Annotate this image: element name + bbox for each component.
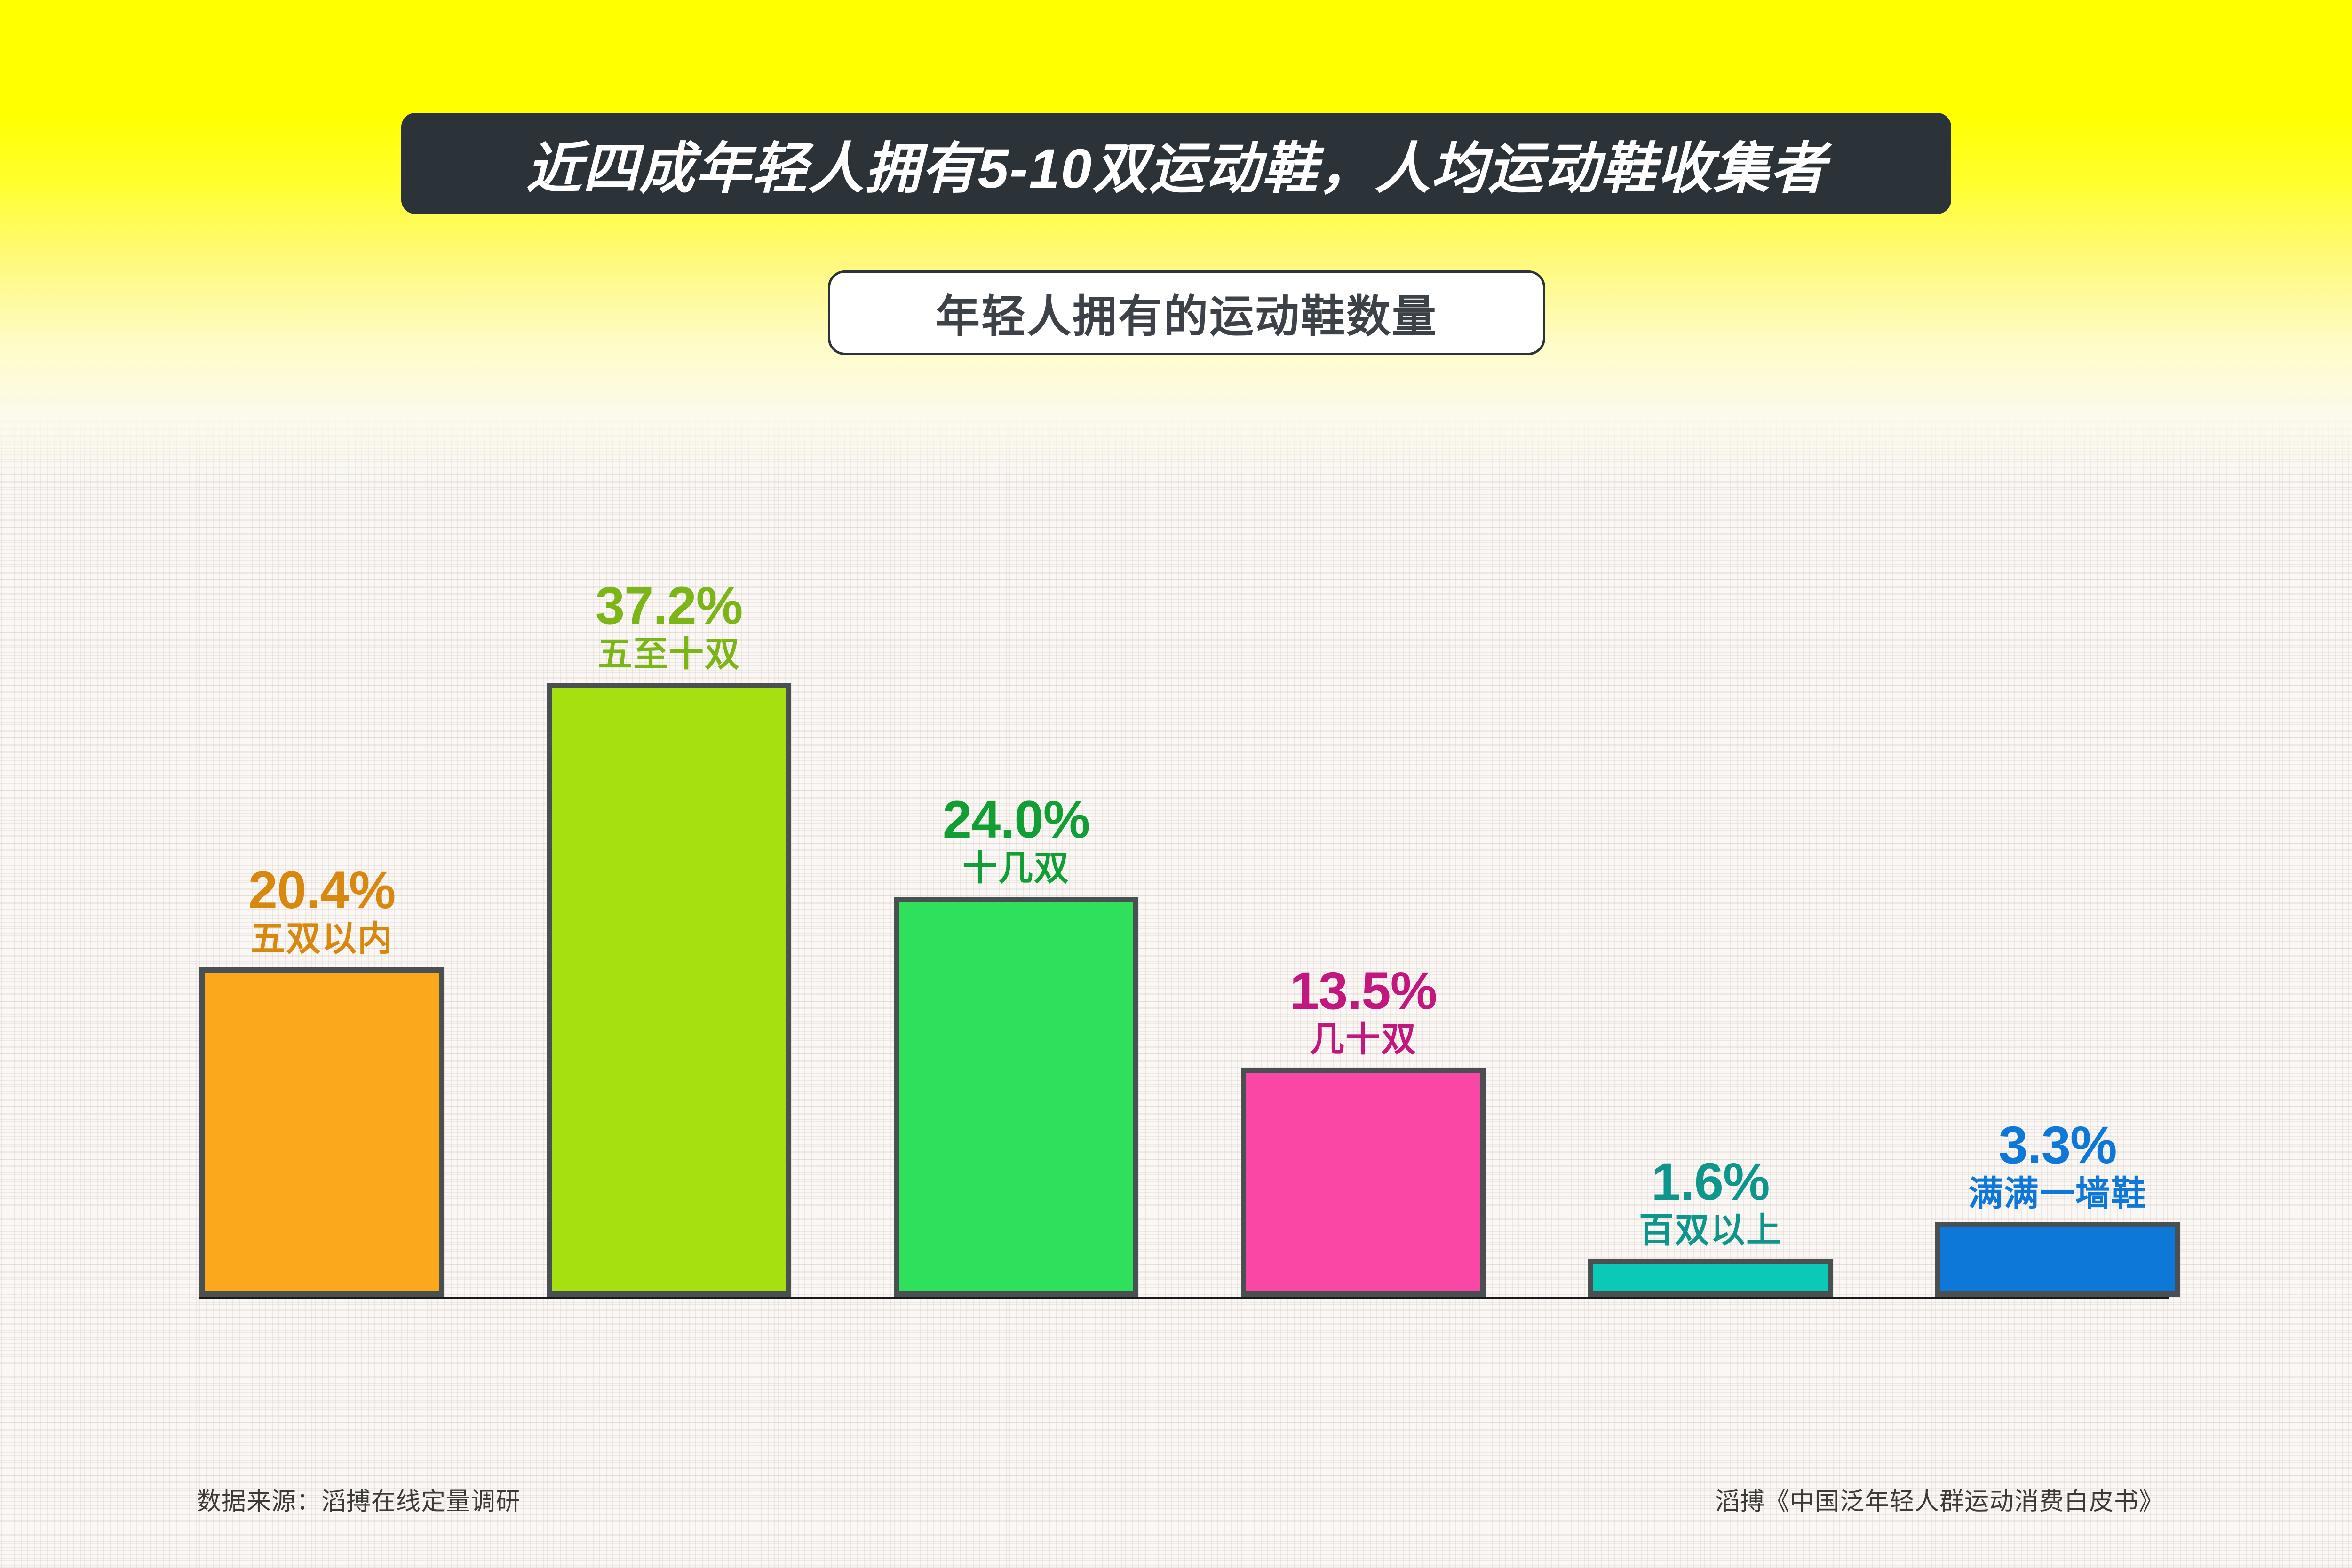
bar-category-label: 五双以内 xyxy=(248,921,396,956)
bar-group: 24.0%十几双 xyxy=(894,897,1138,1297)
bar-category-label: 几十双 xyxy=(1290,1022,1437,1057)
bar-value-label: 3.3% xyxy=(1968,1119,2147,1172)
footer-source: 数据来源：滔搏在线定量调研 xyxy=(197,1481,521,1517)
bar-value-label: 24.0% xyxy=(943,793,1090,846)
bar-label-block: 13.5%几十双 xyxy=(1290,965,1437,1057)
bar-value-label: 13.5% xyxy=(1290,965,1437,1017)
bar[interactable] xyxy=(1588,1259,1833,1297)
bar-category-label: 五至十双 xyxy=(596,637,743,672)
bar[interactable] xyxy=(199,967,444,1297)
bar-group: 1.6%百双以上 xyxy=(1588,1259,1833,1297)
bar-label-block: 3.3%满满一墙鞋 xyxy=(1968,1119,2147,1211)
bar-label-block: 20.4%五双以内 xyxy=(248,864,396,956)
bar-category-label: 百双以上 xyxy=(1639,1213,1782,1248)
bar-label-block: 1.6%百双以上 xyxy=(1639,1156,1782,1248)
bar-label-block: 24.0%十几双 xyxy=(943,793,1090,886)
bar[interactable] xyxy=(894,897,1138,1297)
bar-group: 13.5%几十双 xyxy=(1241,1068,1486,1297)
bar-group: 3.3%满满一墙鞋 xyxy=(1935,1222,2180,1297)
bar-value-label: 20.4% xyxy=(248,864,396,917)
bar[interactable] xyxy=(547,683,791,1297)
bar[interactable] xyxy=(1935,1222,2180,1297)
bar-label-block: 37.2%五至十双 xyxy=(596,579,743,672)
bar-category-label: 满满一墙鞋 xyxy=(1968,1176,2147,1211)
bar-value-label: 1.6% xyxy=(1639,1156,1782,1208)
chart-baseline xyxy=(199,1297,2169,1299)
bar-category-label: 十几双 xyxy=(943,851,1090,886)
bar[interactable] xyxy=(1241,1068,1486,1297)
bar-value-label: 37.2% xyxy=(596,579,743,632)
bar-chart-plot: 20.4%五双以内37.2%五至十双24.0%十几双13.5%几十双1.6%百双… xyxy=(0,0,2352,1568)
bar-group: 37.2%五至十双 xyxy=(547,683,791,1297)
bar-group: 20.4%五双以内 xyxy=(199,967,444,1297)
footer-report: 滔搏《中国泛年轻人群运动消费白皮书》 xyxy=(1715,1481,2164,1517)
